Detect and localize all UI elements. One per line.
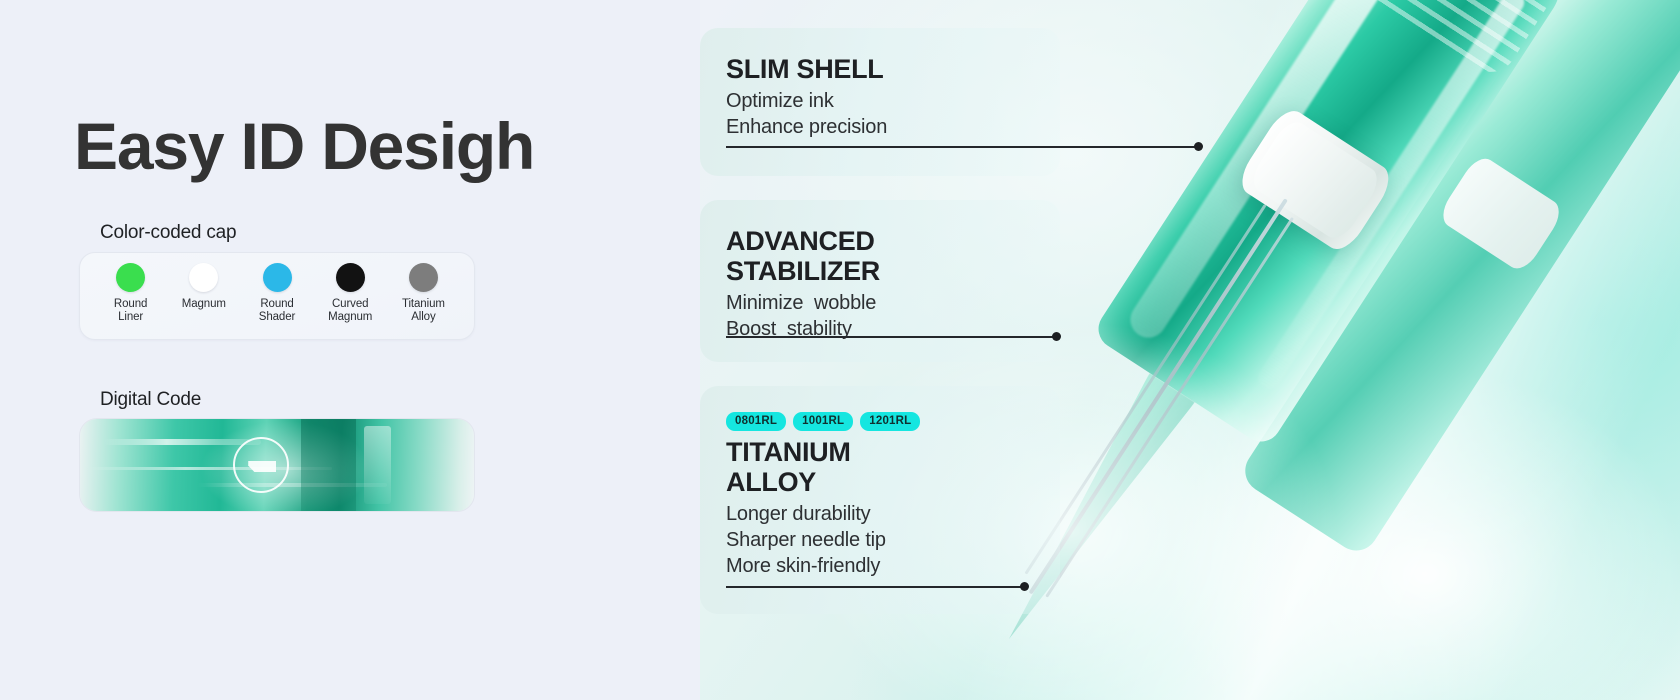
callout-title: TITANIUM ALLOY [726, 437, 1060, 497]
page-title: Easy ID Desigh [74, 108, 534, 184]
swatch-dot-round-shader [263, 263, 292, 292]
swatch-item-titanium-alloy[interactable]: Titanium Alloy [387, 263, 460, 323]
callout-line: Minimize wobble [726, 290, 1060, 316]
callout-line: Sharper needle tip [726, 527, 1060, 553]
callout-body: Minimize wobble Boost stability [726, 290, 1060, 342]
photo-highlight-stripe [198, 483, 387, 487]
callout-title: ADVANCED STABILIZER [726, 226, 1060, 286]
leader-dot-advanced-stabilizer [1052, 332, 1061, 341]
leader-line-slim-shell [726, 146, 1198, 148]
leader-dot-slim-shell [1194, 142, 1203, 151]
callout-line: Longer durability [726, 501, 1060, 527]
swatch-label-curved-magnum: Curved Magnum [328, 298, 372, 323]
callout-body: Optimize ink Enhance precision [726, 88, 1060, 140]
swatch-item-curved-magnum[interactable]: Curved Magnum [314, 263, 387, 323]
color-coded-cap-label: Color-coded cap [100, 222, 236, 244]
swatch-dot-titanium-alloy [409, 263, 438, 292]
callout-card-advanced-stabilizer: ADVANCED STABILIZER Minimize wobble Boos… [700, 200, 1060, 362]
badge-needle-code[interactable]: 1201RL [860, 412, 920, 431]
badge-needle-code[interactable]: 1001RL [793, 412, 853, 431]
badge-needle-code[interactable]: 0801RL [726, 412, 786, 431]
photo-highlight-stripe [104, 439, 262, 445]
swatch-row: Round Liner Magnum Round Shader Curved M… [80, 253, 474, 339]
photo-light-band [364, 426, 392, 503]
color-coded-cap-card: Round Liner Magnum Round Shader Curved M… [79, 252, 475, 340]
swatch-label-round-liner: Round Liner [114, 298, 147, 323]
swatch-item-magnum[interactable]: Magnum [167, 263, 240, 311]
callout-line: Boost stability [726, 316, 1060, 342]
leader-line-advanced-stabilizer [726, 336, 1056, 338]
needle-code-badges: 0801RL 1001RL 1201RL [726, 412, 1060, 431]
leader-line-titanium-alloy [726, 586, 1024, 588]
infographic-canvas: Easy ID Desigh Color-coded cap Round Lin… [0, 0, 1680, 700]
callout-line: Optimize ink [726, 88, 1060, 114]
digital-code-card [79, 418, 475, 512]
digital-code-label: Digital Code [100, 389, 201, 411]
callout-card-titanium-alloy: 0801RL 1001RL 1201RL TITANIUM ALLOY Long… [700, 386, 1060, 614]
left-panel: Easy ID Desigh Color-coded cap Round Lin… [0, 0, 700, 700]
swatch-dot-magnum [189, 263, 218, 292]
swatch-item-round-liner[interactable]: Round Liner [94, 263, 167, 323]
photo-dark-band [301, 419, 356, 511]
swatch-item-round-shader[interactable]: Round Shader [240, 263, 313, 323]
swatch-label-titanium-alloy: Titanium Alloy [402, 298, 445, 323]
callout-title: SLIM SHELL [726, 54, 1060, 84]
callout-card-slim-shell: SLIM SHELL Optimize ink Enhance precisio… [700, 28, 1060, 176]
swatch-dot-round-liner [116, 263, 145, 292]
callout-body: Longer durability Sharper needle tip Mor… [726, 501, 1060, 579]
callout-line: Enhance precision [726, 114, 1060, 140]
swatch-dot-curved-magnum [336, 263, 365, 292]
photo-highlight-stripe [88, 467, 332, 470]
swatch-label-magnum: Magnum [182, 298, 226, 311]
magnifier-circle-icon [233, 437, 289, 493]
right-panel: SLIM SHELL Optimize ink Enhance precisio… [700, 0, 1680, 700]
swatch-label-round-shader: Round Shader [259, 298, 295, 323]
cartridge-photo-thumbnail [80, 419, 474, 511]
leader-dot-titanium-alloy [1020, 582, 1029, 591]
callout-line: More skin-friendly [726, 553, 1060, 579]
